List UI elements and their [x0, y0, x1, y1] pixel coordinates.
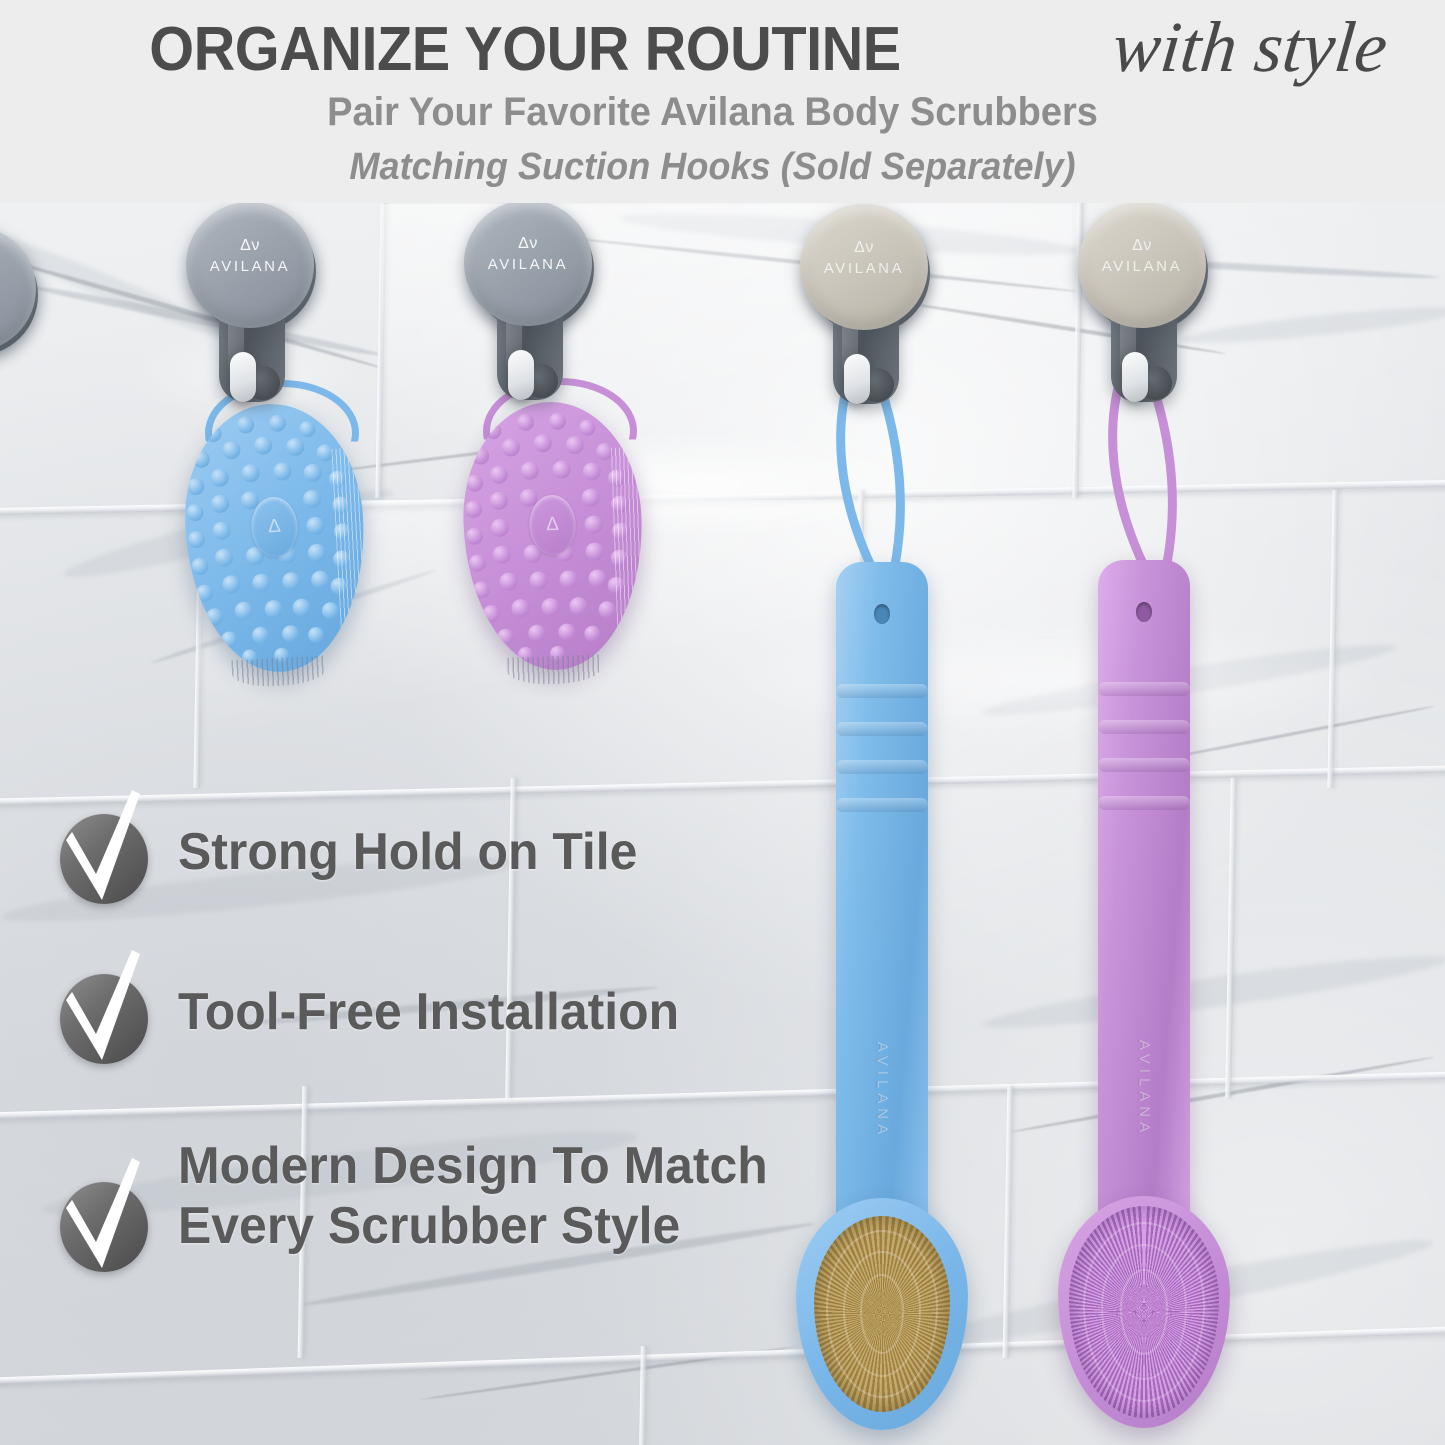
brush-handle	[1098, 560, 1190, 1260]
avilana-brand-text: AVILANA	[800, 260, 928, 277]
feature-item-1: Strong Hold on Tile	[52, 800, 657, 904]
hook-peg	[1122, 352, 1148, 402]
pad-body: Δ	[459, 399, 646, 673]
suction-hook-2[interactable]: Δν AVILANA	[464, 200, 592, 406]
brush-grip-ridge	[836, 684, 928, 698]
hook-disc: Δν AVILANA	[464, 200, 592, 326]
header-subtitle-2: Matching Suction Hooks (Sold Separately)	[36, 146, 1390, 189]
brush-hang-hole	[1136, 602, 1152, 622]
checkmark-glyph	[52, 948, 156, 1068]
feature-label: Tool-Free Installation	[178, 982, 679, 1042]
header-subtitle-1: Pair Your Favorite Avilana Body Scrubber…	[36, 90, 1390, 135]
brush-grip-ridge	[836, 798, 928, 812]
brush-grip-ridge	[836, 722, 928, 736]
avilana-brand-text: AVILANA	[464, 256, 592, 273]
header-banner: ORGANIZE YOUR ROUTINE with style Pair Yo…	[0, 0, 1445, 203]
brush-grip-ridge	[1098, 720, 1190, 734]
avilana-logo-mark: Δν	[800, 240, 928, 256]
brush-bristles-natural	[814, 1216, 950, 1412]
checkmark-icon	[52, 800, 156, 904]
hook-disc: Δν AVILANA	[1078, 202, 1206, 328]
scrubber-pad-purple[interactable]: Δ	[459, 399, 646, 673]
checkmark-icon	[52, 1168, 156, 1272]
feature-item-3: Modern Design To Match Every Scrubber St…	[52, 1132, 792, 1272]
checkmark-glyph	[52, 1156, 156, 1276]
hook-peg	[508, 350, 534, 400]
hook-peg	[844, 354, 870, 404]
suction-hook-3[interactable]: Δν AVILANA	[800, 204, 928, 410]
brush-grip-ridge	[836, 760, 928, 774]
product-marketing-image: Δν AVILANA Δν AVILANA Δν AVILANA Δν AV	[0, 0, 1445, 1445]
brush-grip-ridge	[1098, 758, 1190, 772]
page-title: ORGANIZE YOUR ROUTINE	[37, 14, 1014, 85]
pad-body: Δ	[179, 400, 371, 677]
hook-disc: Δν AVILANA	[800, 204, 928, 330]
feature-label: Modern Design To Match Every Scrubber St…	[178, 1136, 768, 1257]
suction-hook-4[interactable]: Δν AVILANA	[1078, 202, 1206, 408]
brush-handle	[836, 562, 928, 1262]
suction-hook-1[interactable]: Δν AVILANA	[186, 202, 314, 408]
hook-peg	[230, 352, 256, 402]
script-accent-text: with style	[1051, 6, 1445, 89]
feature-label: Strong Hold on Tile	[178, 822, 637, 882]
feature-item-2: Tool-Free Installation	[52, 960, 700, 1064]
avilana-logo-mark: Δν	[464, 236, 592, 252]
suction-hook-partial-left[interactable]	[0, 226, 36, 432]
checkmark-glyph	[52, 788, 156, 908]
hook-disc: Δν AVILANA	[186, 202, 314, 328]
avilana-brand-text: AVILANA	[1078, 258, 1206, 275]
body-brush-blue[interactable]: AVILANA	[836, 562, 928, 1402]
brush-grip-ridge	[1098, 682, 1190, 696]
checkmark-icon	[52, 960, 156, 1064]
brush-brand-emboss: AVILANA	[1136, 1040, 1153, 1137]
avilana-brand-text: AVILANA	[186, 258, 314, 275]
body-brush-purple[interactable]: AVILANA	[1098, 560, 1190, 1400]
avilana-logo-mark: Δν	[1078, 238, 1206, 254]
scrubber-pad-blue[interactable]: Δ	[179, 400, 371, 677]
brush-hang-hole	[874, 604, 890, 624]
brush-grip-ridge	[1098, 796, 1190, 810]
brush-brand-emboss: AVILANA	[874, 1042, 891, 1139]
avilana-logo-mark: Δν	[186, 238, 314, 254]
brush-bristles-silicone	[1069, 1206, 1219, 1418]
